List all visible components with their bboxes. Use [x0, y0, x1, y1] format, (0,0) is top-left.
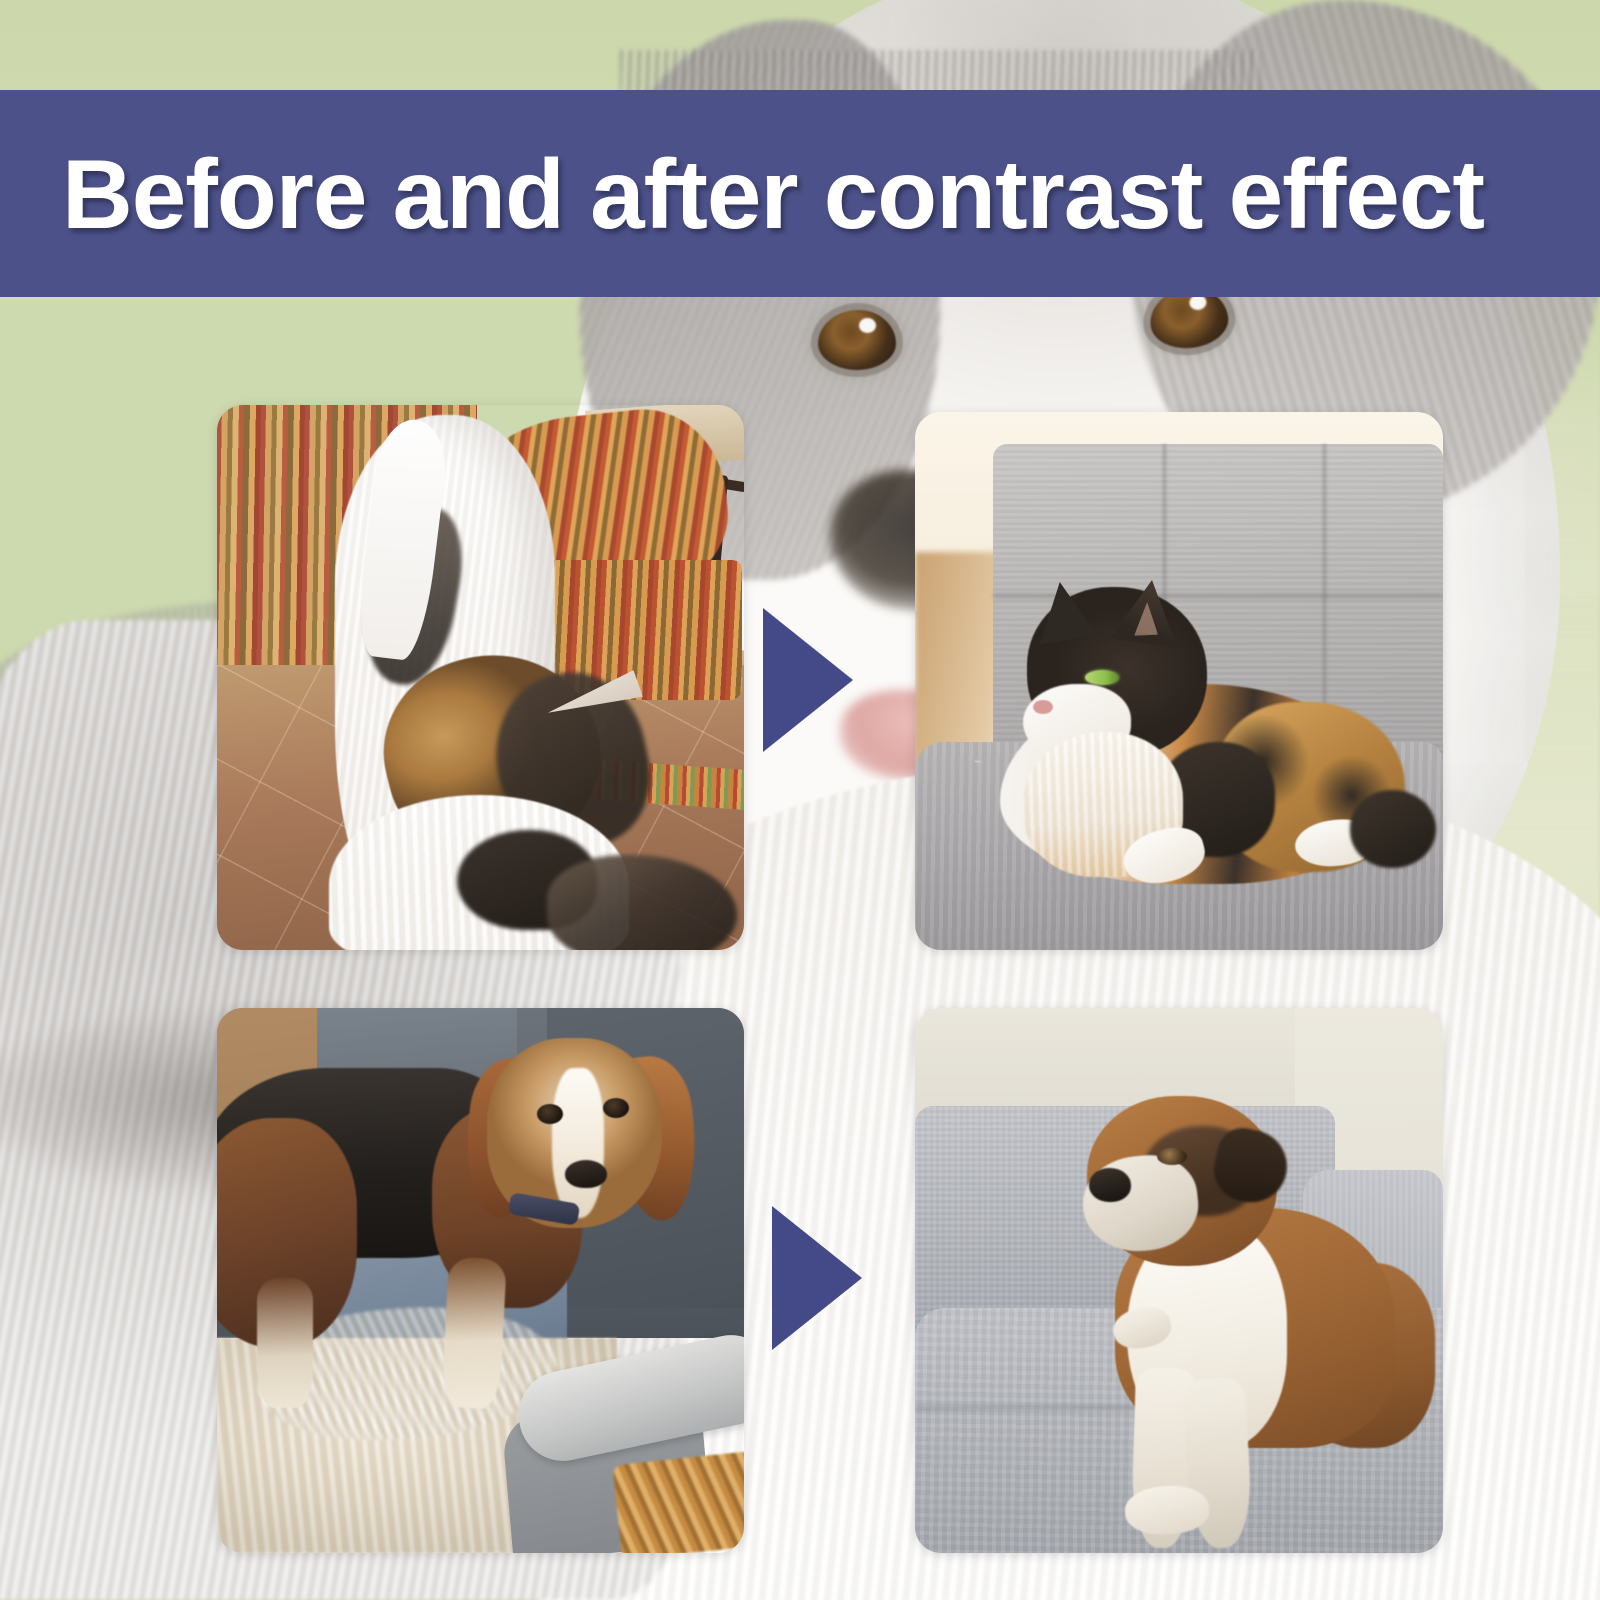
calico-cat-eye — [1085, 670, 1119, 685]
intact-sofa-seam — [915, 1406, 1165, 1410]
boxer-eye — [1157, 1148, 1187, 1165]
after-photo-cat-content — [915, 412, 1443, 950]
before-photo-cat-content — [217, 405, 744, 950]
boxer-nose — [1089, 1168, 1131, 1202]
background-dog-eye-left — [818, 310, 896, 370]
before-photo-cat[interactable] — [217, 405, 744, 950]
right-triangle-arrow-icon-cat-row — [763, 608, 853, 752]
ripped-upholstery — [612, 1451, 744, 1553]
beagle-back-leg — [257, 1278, 313, 1408]
page-title: Before and after contrast effect — [0, 145, 1484, 243]
after-photo-cat[interactable] — [915, 412, 1443, 950]
calico-cat-tail — [1350, 790, 1436, 868]
title-banner: Before and after contrast effect — [0, 90, 1600, 297]
before-photo-dog-content — [217, 1008, 744, 1553]
beagle-front-leg — [441, 1257, 507, 1410]
after-photo-dog[interactable] — [915, 1008, 1443, 1553]
right-triangle-arrow-icon-dog-row — [772, 1206, 862, 1350]
after-photo-dog-content — [915, 1008, 1443, 1553]
beagle-nose — [565, 1160, 607, 1188]
before-photo-dog[interactable] — [217, 1008, 744, 1553]
beagle-face-blaze — [552, 1068, 604, 1218]
poster-canvas: Before and after contrast effect — [0, 0, 1600, 1600]
beagle-eye-right — [603, 1098, 629, 1118]
beagle-eye-left — [537, 1104, 563, 1124]
